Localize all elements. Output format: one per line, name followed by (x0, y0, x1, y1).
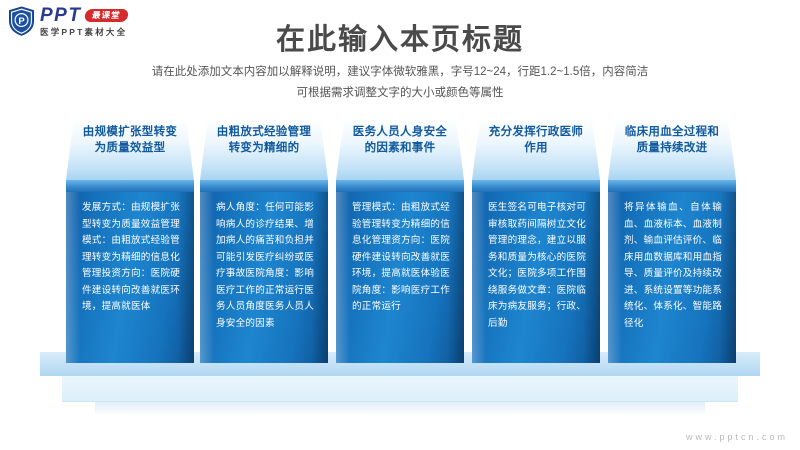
pillar-4-bevel (472, 180, 600, 192)
pillar-1-bevel (66, 180, 194, 192)
pillar-4[interactable]: 充分发挥行政医师作用 医生签名可电子核对可审核取药间隔树立文化管理的理念，建立以… (472, 118, 600, 363)
pillar-3-title: 医务人员人身安全的因素和事件 (348, 124, 452, 157)
pillar-5-body-text: 将异体输血、自体输血、血液标本、血液制剂、输血评估评价、临床用血数据库和用血指导… (608, 192, 736, 332)
pillar-1-body-text: 发展方式：由规模扩张型转变为质量效益管理模式：由粗放式经验管理转变为精细的信息化… (66, 192, 194, 316)
pillar-3-body-text: 管理模式：由粗放式经验管理转变为精细的信息化管理资方向：医院硬件建设转向改善就医… (336, 192, 464, 316)
pillar-5-title: 临床用血全过程和质量持续改进 (620, 124, 724, 157)
subtitle-line-1: 请在此处添加文本内容加以解释说明，建议字体微软雅黑，字号12~24，行距1.2~… (0, 62, 800, 83)
pillar-5-cap: 临床用血全过程和质量持续改进 (608, 118, 736, 180)
pillar-1[interactable]: 由规模扩张型转变为质量效益型 发展方式：由规模扩张型转变为质量效益管理模式：由粗… (66, 118, 194, 363)
pillar-2-bevel (200, 180, 328, 192)
pillar-3-cap: 医务人员人身安全的因素和事件 (336, 118, 464, 180)
pillar-1-body: 发展方式：由规模扩张型转变为质量效益管理模式：由粗放式经验管理转变为精细的信息化… (66, 192, 194, 363)
pillar-5-bevel (608, 180, 736, 192)
pillar-2-title: 由粗放式经验管理转变为精细的 (212, 124, 316, 157)
pillar-group: 由规模扩张型转变为质量效益型 发展方式：由规模扩张型转变为质量效益管理模式：由粗… (0, 118, 800, 363)
pillar-4-title: 充分发挥行政医师作用 (484, 124, 588, 157)
pillar-4-cap: 充分发挥行政医师作用 (472, 118, 600, 180)
platform-shadow (95, 402, 705, 416)
pillar-1-title: 由规模扩张型转变为质量效益型 (78, 124, 182, 157)
footer-watermark: www.pptcn.com (686, 432, 788, 442)
pillar-5[interactable]: 临床用血全过程和质量持续改进 将异体输血、自体输血、血液标本、血液制剂、输血评估… (608, 118, 736, 363)
page-title: 在此输入本页标题 (0, 16, 800, 58)
pillar-2-body-text: 病人角度：任何可能影响病人的诊疗结果、增加病人的痛苦和负担并可能引发医疗纠纷或医… (200, 192, 328, 332)
pillar-3[interactable]: 医务人员人身安全的因素和事件 管理模式：由粗放式经验管理转变为精细的信息化管理资… (336, 118, 464, 363)
platform-front-face (62, 376, 738, 402)
page-subtitle: 请在此处添加文本内容加以解释说明，建议字体微软雅黑，字号12~24，行距1.2~… (0, 62, 800, 105)
pillar-5-body: 将异体输血、自体输血、血液标本、血液制剂、输血评估评价、临床用血数据库和用血指导… (608, 192, 736, 363)
subtitle-line-2: 可根据需求调整文字的大小或颜色等属性 (0, 83, 800, 104)
pillar-3-bevel (336, 180, 464, 192)
pillar-4-body: 医生签名可电子核对可审核取药间隔树立文化管理的理念，建立以服务和质量为核心的医院… (472, 192, 600, 363)
platform-base (0, 352, 800, 432)
pillar-1-cap: 由规模扩张型转变为质量效益型 (66, 118, 194, 180)
pillar-2-body: 病人角度：任何可能影响病人的诊疗结果、增加病人的痛苦和负担并可能引发医疗纠纷或医… (200, 192, 328, 363)
pillar-2-cap: 由粗放式经验管理转变为精细的 (200, 118, 328, 180)
pillar-4-body-text: 医生签名可电子核对可审核取药间隔树立文化管理的理念，建立以服务和质量为核心的医院… (472, 192, 600, 332)
pillar-3-body: 管理模式：由粗放式经验管理转变为精细的信息化管理资方向：医院硬件建设转向改善就医… (336, 192, 464, 363)
pillar-2[interactable]: 由粗放式经验管理转变为精细的 病人角度：任何可能影响病人的诊疗结果、增加病人的痛… (200, 118, 328, 363)
